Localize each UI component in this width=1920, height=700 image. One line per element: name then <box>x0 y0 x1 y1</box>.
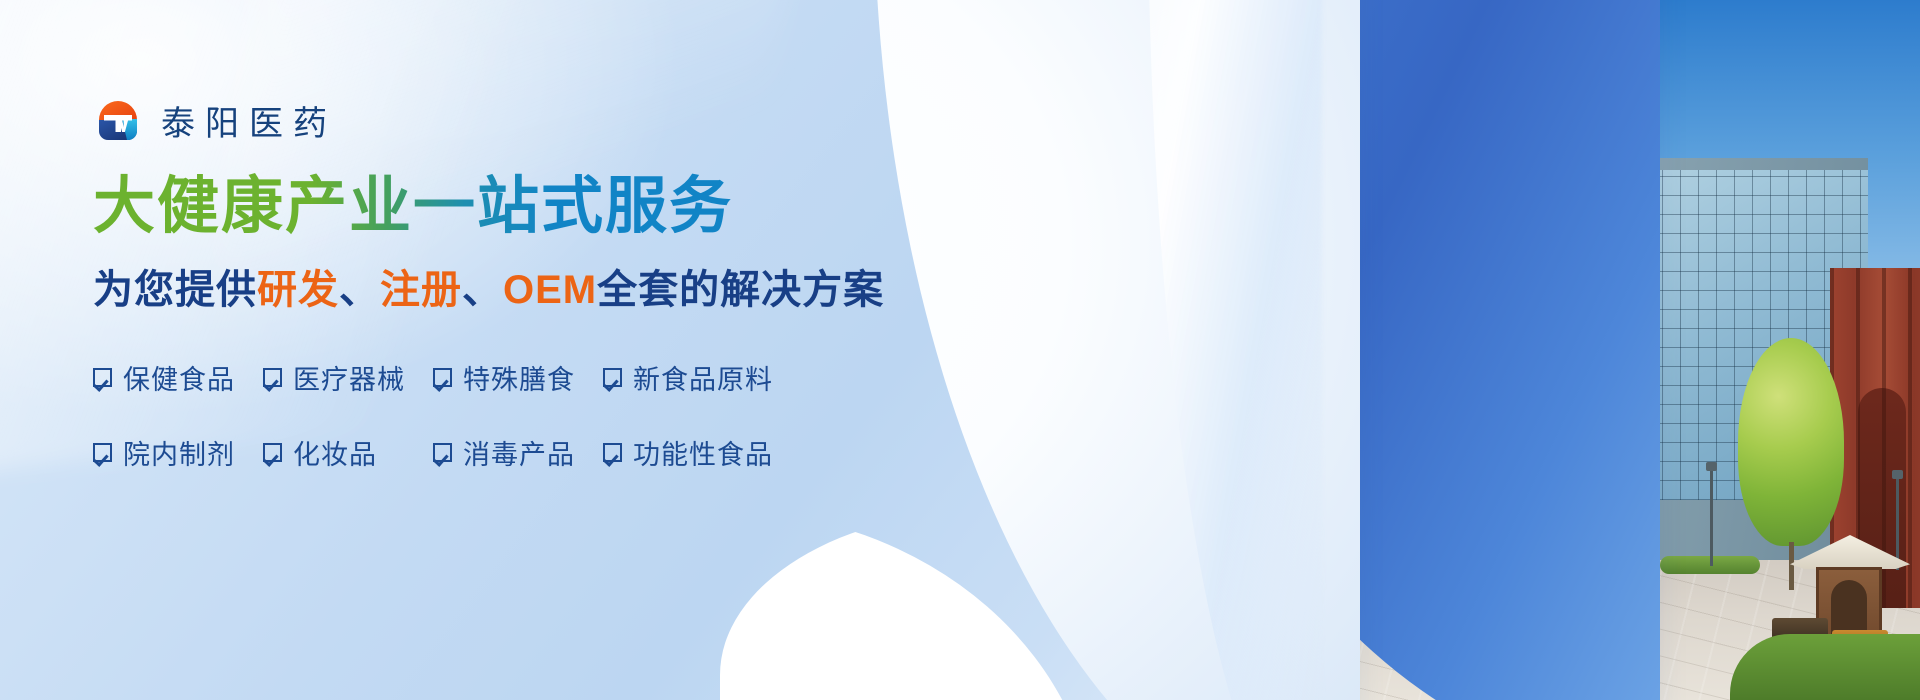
checkbox-checked-icon <box>433 443 452 462</box>
subheadline: 为您提供研发、注册、OEM全套的解决方案 <box>93 266 884 314</box>
subheadline-seg-1: 研发 <box>257 268 339 312</box>
service-label: 特殊膳食 <box>463 358 575 397</box>
lawn-decor <box>1730 634 1920 700</box>
service-item[interactable]: 消毒产品 <box>433 433 575 472</box>
service-label: 化妆品 <box>293 433 377 472</box>
service-item[interactable]: 特殊膳食 <box>433 358 575 397</box>
subheadline-seg-0: 为您提供 <box>93 268 257 312</box>
banner-content: 泰阳医药 大健康产业一站式服务 为您提供研发、注册、OEM全套的解决方案 保健食… <box>0 0 1100 700</box>
service-list: 保健食品 医疗器械 特殊膳食 新食品原料 院内制剂 <box>93 358 853 508</box>
brand-name: 泰阳医药 <box>161 96 337 145</box>
service-label: 消毒产品 <box>463 433 575 472</box>
checkbox-checked-icon <box>603 443 622 462</box>
service-item[interactable]: 院内制剂 <box>93 433 235 472</box>
service-item[interactable]: 医疗器械 <box>263 358 405 397</box>
service-item[interactable]: 保健食品 <box>93 358 235 397</box>
service-label: 院内制剂 <box>123 433 235 472</box>
service-label: 新食品原料 <box>633 358 773 397</box>
subheadline-seg-5: OEM <box>503 268 597 312</box>
checkbox-checked-icon <box>263 443 282 462</box>
service-row: 院内制剂 化妆品 消毒产品 功能性食品 <box>93 433 853 472</box>
taiyang-tv-monogram-icon <box>95 97 143 145</box>
service-item[interactable]: 化妆品 <box>263 433 377 472</box>
subheadline-seg-3: 注册 <box>380 268 462 312</box>
service-row: 保健食品 医疗器械 特殊膳食 新食品原料 <box>93 358 853 397</box>
street-lamp-decor <box>1710 470 1713 566</box>
subheadline-seg-2: 、 <box>339 268 380 312</box>
service-label: 保健食品 <box>123 358 235 397</box>
headline: 大健康产业一站式服务 <box>93 172 733 241</box>
tree-crown-decor <box>1738 338 1844 546</box>
promo-banner: 泰阳医药 大健康产业一站式服务 为您提供研发、注册、OEM全套的解决方案 保健食… <box>0 0 1920 700</box>
brand-lockup[interactable]: 泰阳医药 <box>95 96 337 145</box>
subheadline-seg-6: 全套的解决方案 <box>597 268 884 312</box>
checkbox-checked-icon <box>263 368 282 387</box>
service-label: 功能性食品 <box>633 433 773 472</box>
service-item[interactable]: 功能性食品 <box>603 433 773 472</box>
subheadline-seg-4: 、 <box>462 268 503 312</box>
kiosk-roof-decor <box>1790 535 1910 569</box>
checkbox-checked-icon <box>93 368 112 387</box>
checkbox-checked-icon <box>93 443 112 462</box>
checkbox-checked-icon <box>433 368 452 387</box>
service-item[interactable]: 新食品原料 <box>603 358 773 397</box>
service-label: 医疗器械 <box>293 358 405 397</box>
checkbox-checked-icon <box>603 368 622 387</box>
